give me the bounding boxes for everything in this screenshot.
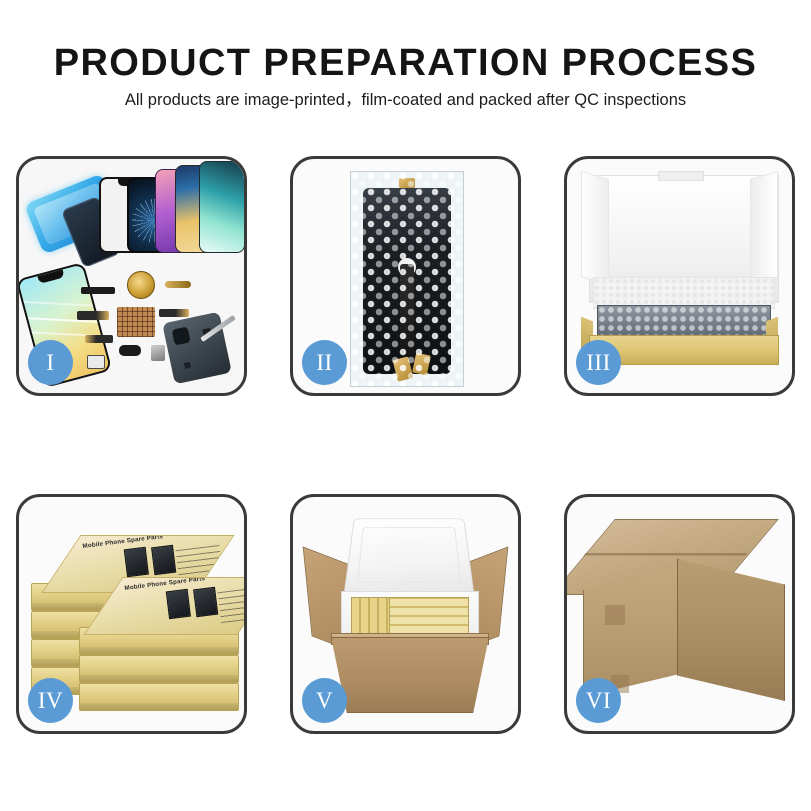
- page-title: PRODUCT PREPARATION PROCESS: [0, 44, 811, 82]
- flex-cable-icon: [81, 287, 115, 294]
- phone-thumbnail-icon: [124, 547, 149, 577]
- process-step-panel-3: III: [564, 156, 795, 396]
- gold-box-edge: [79, 655, 239, 683]
- gold-box-edge: [79, 683, 239, 711]
- phone-thumbnail-icon: [166, 589, 191, 619]
- page-header: PRODUCT PREPARATION PROCESS All products…: [0, 0, 811, 140]
- bubble-wrap-bag-icon: [350, 171, 464, 387]
- lid-right-flap-icon: [750, 171, 778, 285]
- process-step-panel-2: II: [290, 156, 521, 396]
- battery-connector-icon: [151, 345, 165, 361]
- process-step-panel-1: I: [16, 156, 247, 396]
- step-badge-5: V: [302, 678, 347, 723]
- speaker-coil-icon: [127, 271, 155, 299]
- step-badge-4: IV: [28, 678, 73, 723]
- flex-cable-icon: [77, 311, 109, 320]
- step-badge-2: II: [302, 340, 347, 385]
- lid-tab-icon: [658, 171, 704, 181]
- connector-icon: [165, 281, 191, 288]
- step-badge-3: III: [576, 340, 621, 385]
- phone-thumbnail-icon: [151, 545, 176, 575]
- lid-left-flap-icon: [581, 171, 609, 285]
- step-badge-6: VI: [576, 678, 621, 723]
- chip-contact-grid-icon: [117, 307, 155, 337]
- camera-module-icon: [119, 345, 141, 356]
- phone-thumbnail-icon: [193, 587, 218, 617]
- carton-right-face-icon: [677, 559, 785, 701]
- page-subtitle: All products are image-printed，film-coat…: [0, 92, 811, 109]
- process-step-grid: I II III: [16, 156, 795, 734]
- flex-cable-icon: [159, 309, 189, 317]
- sim-tray-icon: [87, 355, 105, 369]
- spec-text-lines: [175, 542, 223, 581]
- carton-tape-patch-icon: [605, 605, 625, 625]
- flex-cable-icon: [85, 335, 113, 343]
- process-step-panel-5: V: [290, 494, 521, 734]
- carton-front-icon: [331, 637, 489, 713]
- spec-text-lines: [217, 584, 247, 623]
- foam-box-lid-icon: [343, 518, 474, 596]
- bubble-texture-overlay: [351, 172, 463, 386]
- process-step-panel-4: Mobile Phone Spare Parts Mobile Phone Sp…: [16, 494, 247, 734]
- step-badge-1: I: [28, 340, 73, 385]
- process-step-panel-6: VI: [564, 494, 795, 734]
- teal-gradient-phone-icon: [199, 161, 245, 253]
